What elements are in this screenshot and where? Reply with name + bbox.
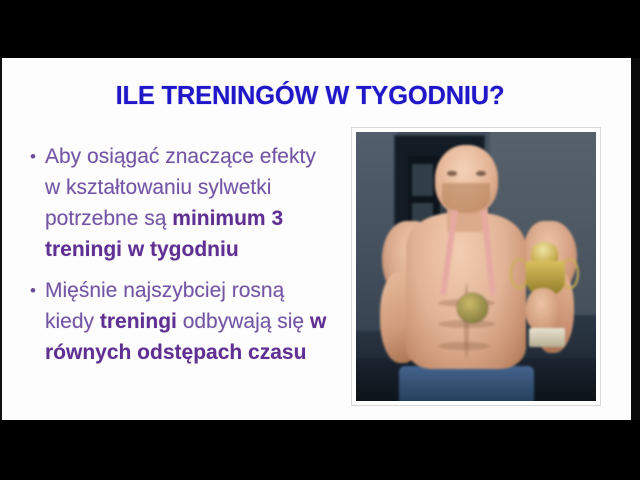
photo-beard (442, 183, 490, 213)
bullet-list: • Aby osiągać znaczące efekty w kształto… (30, 141, 330, 378)
bullet-marker-icon: • (30, 275, 45, 306)
emphasis-text: treningi (100, 310, 177, 333)
photo-hand (526, 288, 560, 331)
bullet-text-2: Mięśnie najszybciej rosną kiedy treningi… (45, 275, 330, 368)
frame-edge-left (0, 58, 2, 420)
bullet-item-1: • Aby osiągać znaczące efekty w kształto… (30, 141, 330, 265)
body-text: odbywają się (177, 310, 310, 333)
photo-door-pane (412, 164, 433, 195)
video-frame: ILE TRENINGÓW W TYGODNIU? • Aby osiągać … (0, 0, 640, 480)
bullet-text-1: Aby osiągać znaczące efekty w kształtowa… (45, 141, 330, 265)
frame-edge-right (631, 58, 640, 420)
bullet-marker-icon: • (30, 141, 45, 172)
photo-medal (457, 293, 488, 323)
bodybuilder-with-trophy-photo (356, 132, 596, 401)
letterbox-bar-top (0, 0, 640, 58)
slide-title: ILE TRENINGÓW W TYGODNIU? (0, 82, 620, 111)
photo-frame (352, 128, 600, 405)
presentation-slide: ILE TRENINGÓW W TYGODNIU? • Aby osiągać … (0, 58, 640, 420)
letterbox-bar-bottom (0, 420, 640, 480)
bullet-item-2: • Mięśnie najszybciej rosną kiedy trenin… (30, 275, 330, 368)
photo-jeans (399, 366, 533, 401)
photo-trophy-base (529, 328, 565, 347)
